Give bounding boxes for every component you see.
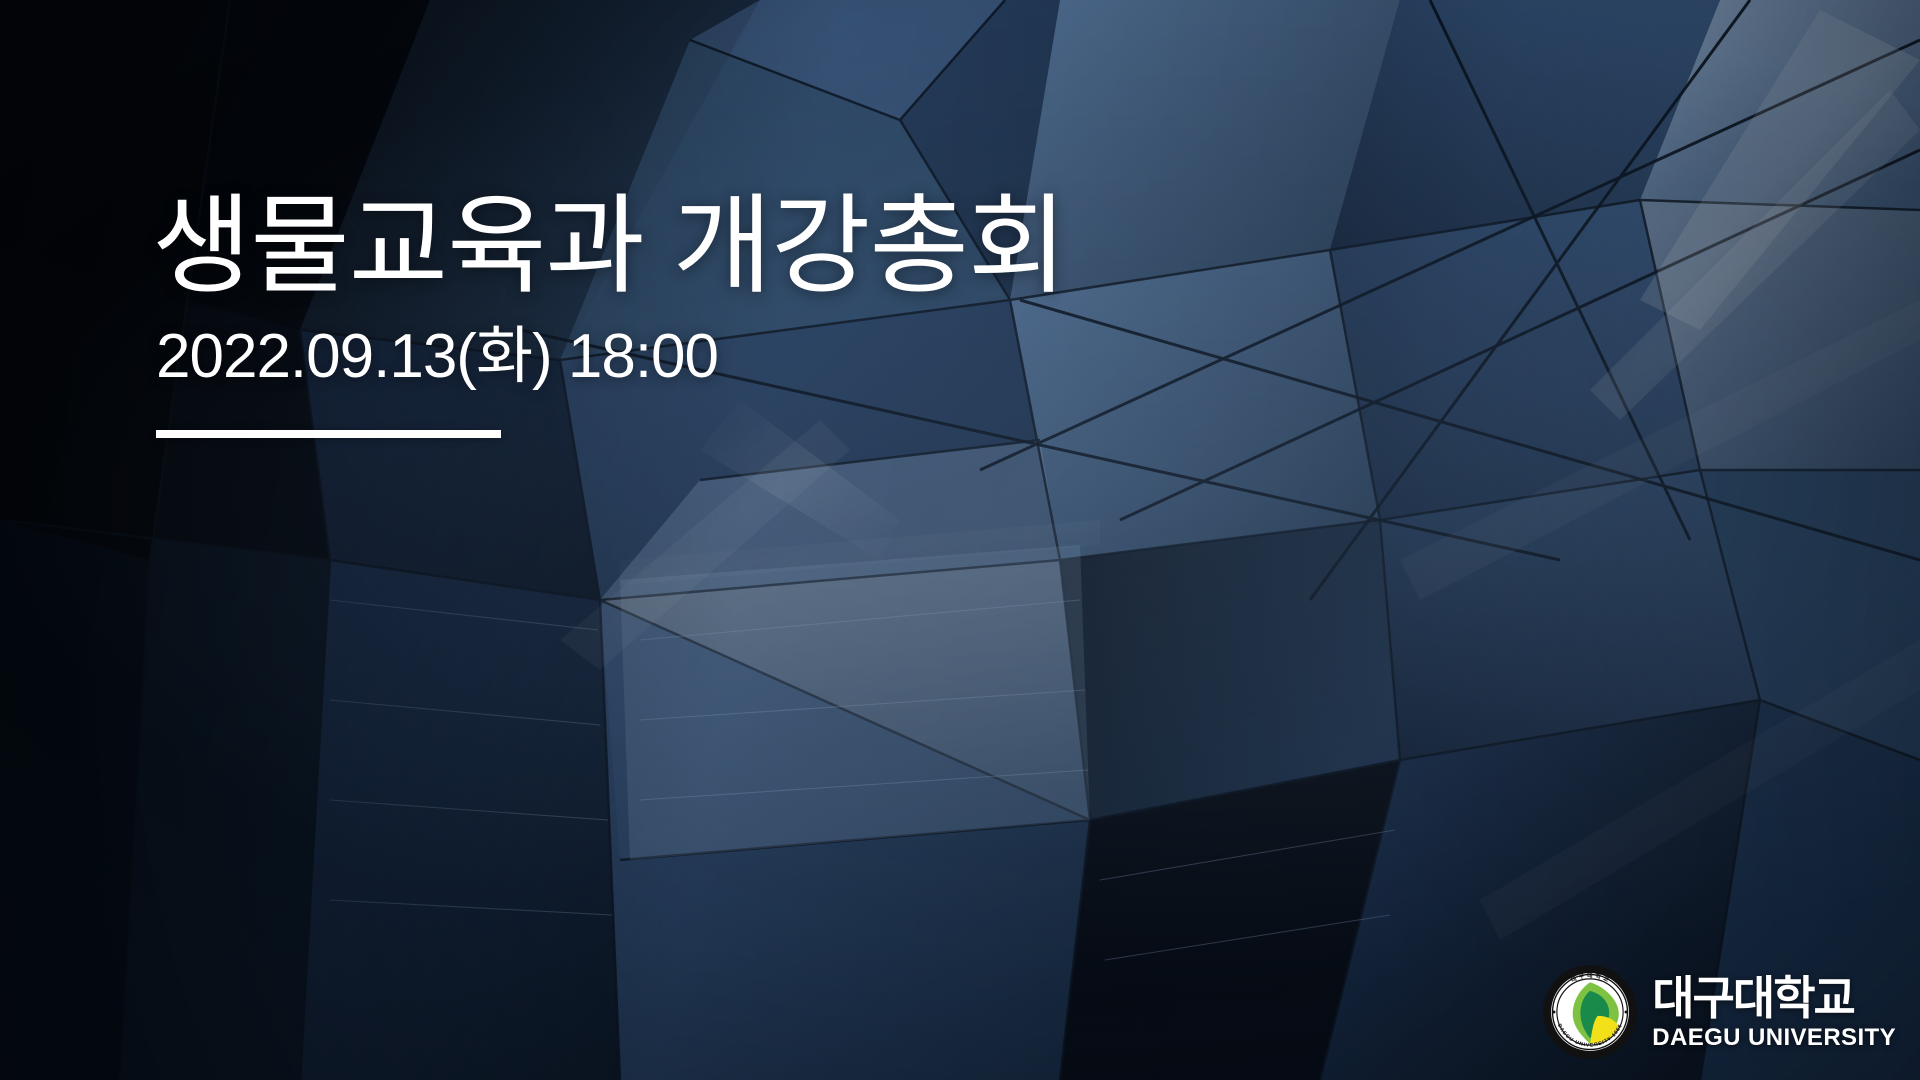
title-divider <box>156 430 501 438</box>
daegu-university-seal-icon: 대 구 대 학 교 DAEGU UNIVERSITY 1956 <box>1542 964 1638 1060</box>
university-name-ko: 대구대학교 <box>1652 975 1854 1021</box>
title-block: 생물교육과 개강총회 2022.09.13(화) 18:00 <box>152 182 1402 438</box>
university-name-en: DAEGU UNIVERSITY <box>1652 1026 1896 1050</box>
university-logo: 대 구 대 학 교 DAEGU UNIVERSITY 1956 대구대학교 DA… <box>1542 964 1896 1060</box>
presentation-slide: 생물교육과 개강총회 2022.09.13(화) 18:00 대 구 대 학 교… <box>0 0 1920 1080</box>
slide-datetime: 2022.09.13(화) 18:00 <box>156 323 1402 391</box>
background-photo <box>0 0 1920 1080</box>
university-name-block: 대구대학교 DAEGU UNIVERSITY <box>1652 975 1896 1050</box>
slide-title: 생물교육과 개강총회 <box>152 182 1402 309</box>
